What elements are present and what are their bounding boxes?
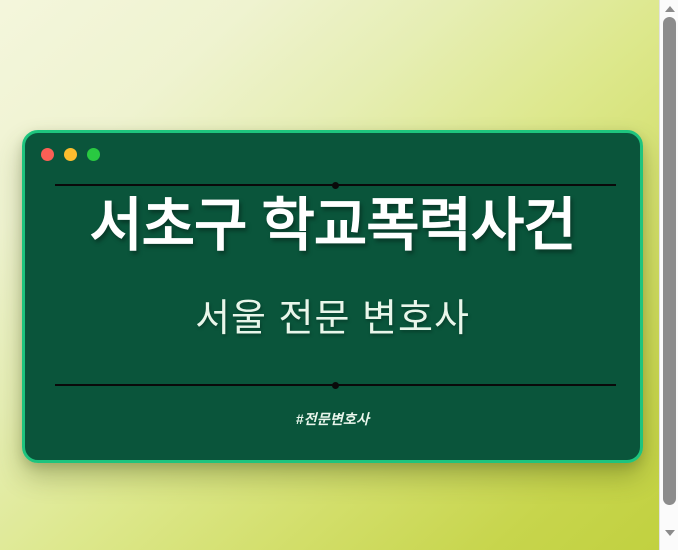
card-title: 서초구 학교폭력사건 [25,195,640,258]
scrollbar-thumb[interactable] [663,17,676,505]
vertical-scrollbar[interactable] [659,0,678,550]
screenshot-viewport: 서초구 학교폭력사건 서울 전문 변호사 #전문변호사 [0,0,678,550]
scroll-up-button[interactable] [660,1,678,16]
divider-node-icon [332,382,339,389]
close-icon[interactable] [41,148,54,161]
divider-top [55,184,616,186]
window-controls [41,148,100,161]
triangle-down-icon [665,530,675,536]
thumbnail-card[interactable]: 서초구 학교폭력사건 서울 전문 변호사 #전문변호사 [22,130,643,463]
maximize-icon[interactable] [87,148,100,161]
triangle-up-icon [665,6,675,12]
divider-node-icon [332,182,339,189]
divider-bottom [55,384,616,386]
card-hashtag: #전문변호사 [25,409,640,429]
scroll-down-button[interactable] [660,525,678,540]
minimize-icon[interactable] [64,148,77,161]
card-subtitle: 서울 전문 변호사 [25,299,640,341]
